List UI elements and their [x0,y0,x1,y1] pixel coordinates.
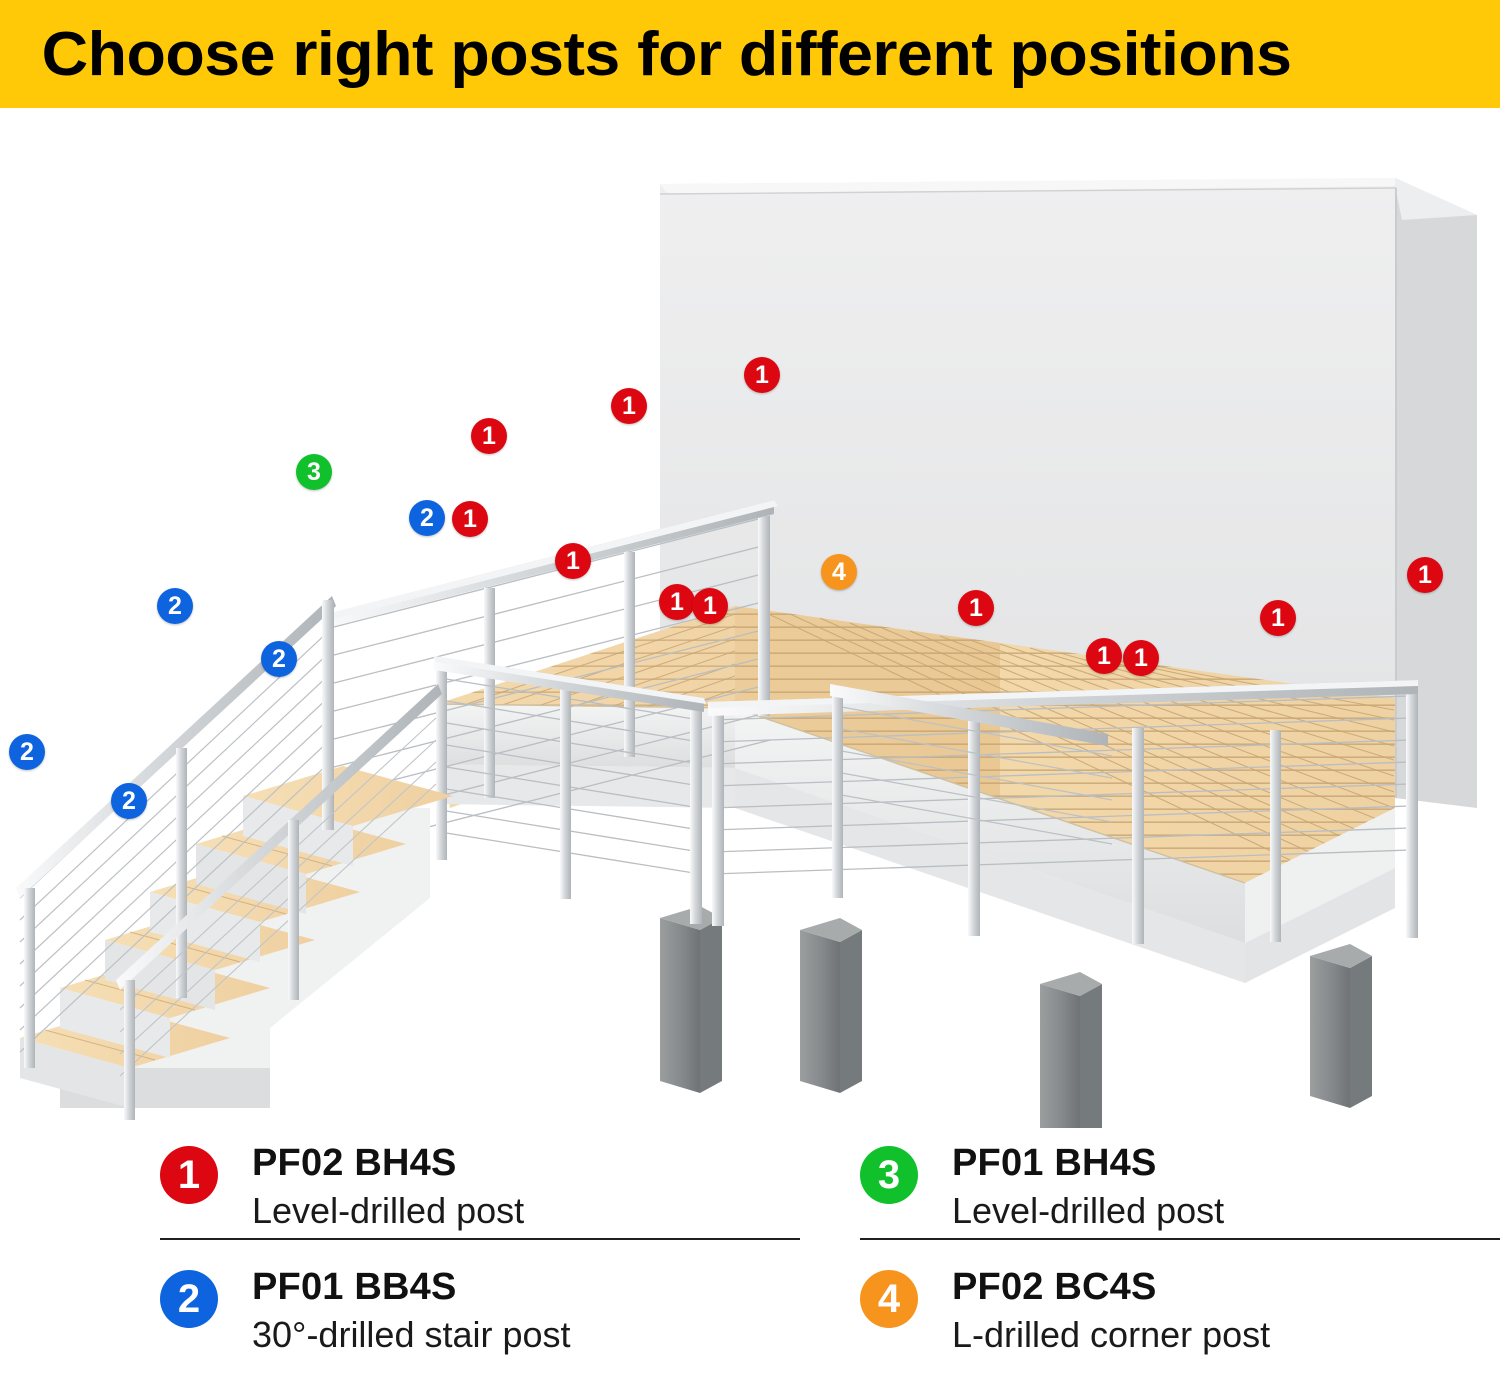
legend-desc-1: Level-drilled post [252,1189,524,1232]
legend-text-3: PF01 BH4S Level-drilled post [952,1142,1224,1232]
legend-badge-2: 2 [160,1270,218,1328]
legend-column-right: 3 PF01 BH4S Level-drilled post 4 PF02 BC… [860,1128,1500,1399]
marker-badge-1: 1 [452,501,488,537]
legend-desc-3: Level-drilled post [952,1189,1224,1232]
legend-item-3: 3 PF01 BH4S Level-drilled post [860,1128,1500,1238]
legend-code-3: PF01 BH4S [952,1142,1224,1185]
marker-badge-3: 3 [296,454,332,490]
header-banner: Choose right posts for different positio… [0,0,1500,108]
legend-badge-1: 1 [160,1146,218,1204]
marker-badge-2: 2 [9,734,45,770]
legend-code-2: PF01 BB4S [252,1266,571,1309]
stairs [16,596,453,1120]
page-title: Choose right posts for different positio… [0,19,1291,90]
legend-text-1: PF02 BH4S Level-drilled post [252,1142,524,1232]
marker-badge-1: 1 [555,543,591,579]
marker-badge-1: 1 [1123,640,1159,676]
marker-badge-1: 1 [958,590,994,626]
marker-badge-1: 1 [1260,600,1296,636]
marker-badge-4: 4 [821,554,857,590]
infographic-page: Choose right posts for different positio… [0,0,1500,1399]
marker-badge-1: 1 [692,588,728,624]
deck-illustration: 1113211412111121122 [0,108,1500,1128]
marker-badge-1: 1 [744,357,780,393]
legend-item-2: 2 PF01 BB4S 30°-drilled stair post [160,1238,800,1363]
legend-code-1: PF02 BH4S [252,1142,524,1185]
legend-desc-4: L-drilled corner post [952,1313,1270,1356]
legend-text-4: PF02 BC4S L-drilled corner post [952,1266,1270,1356]
marker-badge-1: 1 [1086,638,1122,674]
legend-text-2: PF01 BB4S 30°-drilled stair post [252,1266,571,1356]
marker-badge-1: 1 [1407,557,1443,593]
marker-badge-1: 1 [471,418,507,454]
legend-column-left: 1 PF02 BH4S Level-drilled post 2 PF01 BB… [160,1128,800,1399]
marker-badge-2: 2 [261,641,297,677]
legend-badge-3: 3 [860,1146,918,1204]
marker-badge-2: 2 [111,783,147,819]
legend: 1 PF02 BH4S Level-drilled post 2 PF01 BB… [0,1128,1500,1399]
legend-desc-2: 30°-drilled stair post [252,1313,571,1356]
legend-badge-4: 4 [860,1270,918,1328]
legend-item-4: 4 PF02 BC4S L-drilled corner post [860,1238,1500,1363]
legend-code-4: PF02 BC4S [952,1266,1270,1309]
marker-badge-1: 1 [659,584,695,620]
marker-badge-2: 2 [409,500,445,536]
marker-badge-2: 2 [157,588,193,624]
marker-badge-1: 1 [611,388,647,424]
legend-item-1: 1 PF02 BH4S Level-drilled post [160,1128,800,1238]
